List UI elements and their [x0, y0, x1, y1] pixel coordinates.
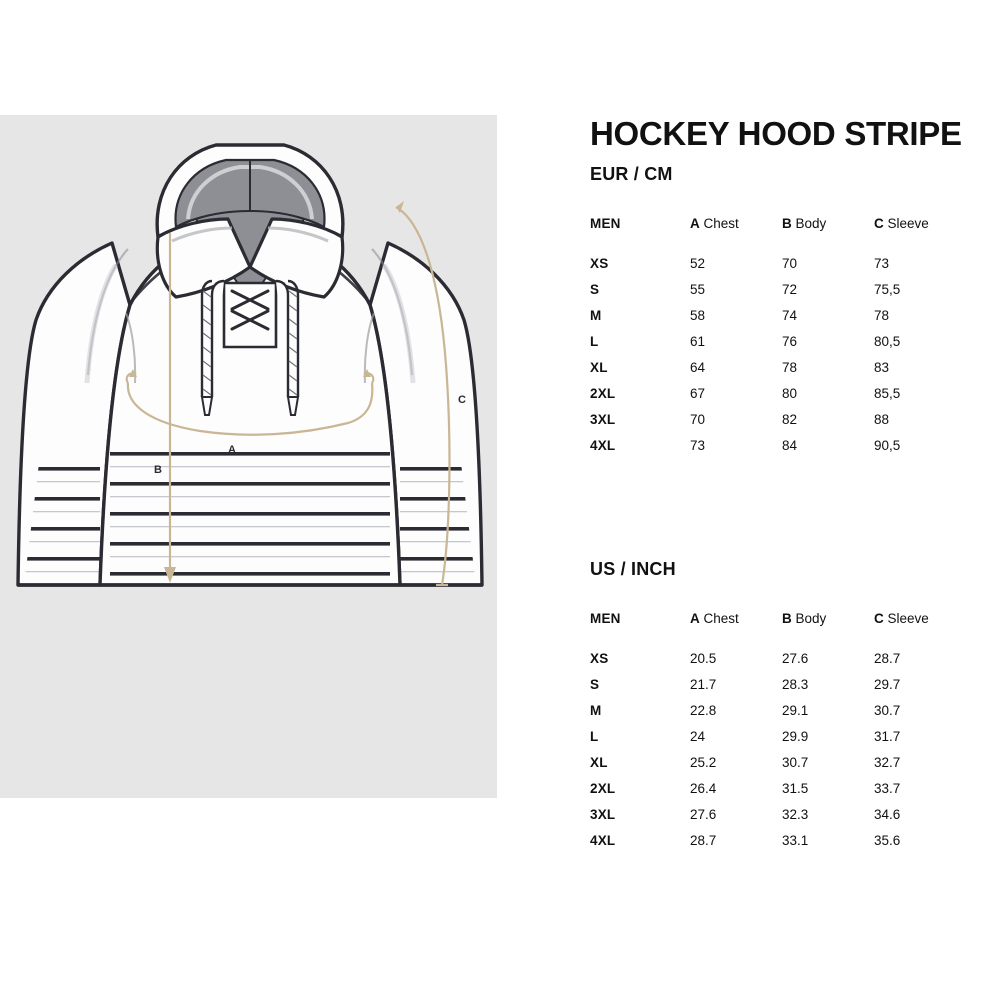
column-letter-a: A [690, 611, 700, 626]
table-header-row: MEN A Chest B Body C Sleeve [590, 612, 950, 652]
cell-chest: 73 [690, 439, 782, 465]
cell-sleeve: 31.7 [874, 730, 950, 756]
cell-size: 2XL [590, 782, 690, 808]
table-row: L 24 29.9 31.7 [590, 730, 950, 756]
cell-chest: 27.6 [690, 808, 782, 834]
cell-sleeve: 83 [874, 361, 950, 387]
column-label-body: Body [796, 611, 827, 626]
column-header-body: B Body [782, 217, 874, 257]
cell-size: M [590, 309, 690, 335]
cell-body: 76 [782, 335, 874, 361]
cell-chest: 26.4 [690, 782, 782, 808]
cell-chest: 67 [690, 387, 782, 413]
cell-chest: 64 [690, 361, 782, 387]
table-header-row: MEN A Chest B Body C Sleeve [590, 217, 950, 257]
cell-size: 4XL [590, 834, 690, 860]
column-label-chest: Chest [704, 216, 739, 231]
cell-sleeve: 85,5 [874, 387, 950, 413]
column-letter-c: C [874, 611, 884, 626]
column-header-body: B Body [782, 612, 874, 652]
cell-size: L [590, 335, 690, 361]
cell-size: XS [590, 257, 690, 283]
cell-chest: 58 [690, 309, 782, 335]
cell-body: 84 [782, 439, 874, 465]
cell-body: 32.3 [782, 808, 874, 834]
cell-size: XL [590, 361, 690, 387]
hood [157, 145, 343, 301]
cell-size: S [590, 678, 690, 704]
cell-sleeve: 80,5 [874, 335, 950, 361]
cell-sleeve: 73 [874, 257, 950, 283]
column-header-chest: A Chest [690, 612, 782, 652]
size-spec-sheet: HOCKEY HOOD STRIPE EUR / CM MEN A Chest … [590, 0, 990, 1000]
cell-chest: 20.5 [690, 652, 782, 678]
cell-sleeve: 90,5 [874, 439, 950, 465]
column-label-chest: Chest [704, 611, 739, 626]
table-row: XS 52 70 73 [590, 257, 950, 283]
table-row: 3XL 27.6 32.3 34.6 [590, 808, 950, 834]
cell-size: 3XL [590, 413, 690, 439]
table-row: XL 25.2 30.7 32.7 [590, 756, 950, 782]
cell-size: S [590, 283, 690, 309]
column-letter-b: B [782, 611, 792, 626]
size-table-us: MEN A Chest B Body C Sleeve XS 20.5 27.6… [590, 612, 950, 860]
column-label-sleeve: Sleeve [888, 216, 929, 231]
cell-body: 33.1 [782, 834, 874, 860]
size-table-body-us: XS 20.5 27.6 28.7 S 21.7 28.3 29.7 M 22.… [590, 652, 950, 860]
table-row: 2XL 67 80 85,5 [590, 387, 950, 413]
cell-chest: 24 [690, 730, 782, 756]
cell-size: L [590, 730, 690, 756]
table-row: L 61 76 80,5 [590, 335, 950, 361]
size-table-block-eur: EUR / CM MEN A Chest B Body C Sleeve XS … [590, 165, 990, 465]
garment-illustration-panel: A B C [0, 115, 497, 798]
cell-chest: 28.7 [690, 834, 782, 860]
column-header-sleeve: C Sleeve [874, 217, 950, 257]
column-letter-c: C [874, 216, 884, 231]
table-row: S 21.7 28.3 29.7 [590, 678, 950, 704]
size-table-body-eur: XS 52 70 73 S 55 72 75,5 M 58 74 78 [590, 257, 950, 465]
cell-chest: 70 [690, 413, 782, 439]
cell-body: 74 [782, 309, 874, 335]
size-table-block-us: US / INCH MEN A Chest B Body C Sleeve XS… [590, 560, 990, 860]
cell-chest: 25.2 [690, 756, 782, 782]
cell-chest: 61 [690, 335, 782, 361]
cell-chest: 52 [690, 257, 782, 283]
cell-sleeve: 30.7 [874, 704, 950, 730]
cell-size: 4XL [590, 439, 690, 465]
cell-chest: 55 [690, 283, 782, 309]
cell-body: 29.1 [782, 704, 874, 730]
cell-size: 3XL [590, 808, 690, 834]
cell-body: 31.5 [782, 782, 874, 808]
column-label-body: Body [796, 216, 827, 231]
cell-body: 82 [782, 413, 874, 439]
cell-sleeve: 35.6 [874, 834, 950, 860]
table-row: 3XL 70 82 88 [590, 413, 950, 439]
cell-body: 27.6 [782, 652, 874, 678]
cell-sleeve: 78 [874, 309, 950, 335]
column-header-chest: A Chest [690, 217, 782, 257]
unit-heading-eur: EUR / CM [590, 165, 990, 183]
cell-size: XS [590, 652, 690, 678]
column-label-sleeve: Sleeve [888, 611, 929, 626]
cell-chest: 21.7 [690, 678, 782, 704]
table-row: XL 64 78 83 [590, 361, 950, 387]
unit-heading-us: US / INCH [590, 560, 990, 578]
column-header-size: MEN [590, 217, 690, 257]
cell-sleeve: 75,5 [874, 283, 950, 309]
cell-body: 70 [782, 257, 874, 283]
cell-size: XL [590, 756, 690, 782]
hoodie-technical-drawing: A B C [0, 115, 497, 798]
chest-guide-letter: A [228, 444, 236, 456]
table-row: 4XL 73 84 90,5 [590, 439, 950, 465]
column-letter-b: B [782, 216, 792, 231]
cell-sleeve: 28.7 [874, 652, 950, 678]
column-letter-a: A [690, 216, 700, 231]
cell-body: 30.7 [782, 756, 874, 782]
cell-chest: 22.8 [690, 704, 782, 730]
cell-sleeve: 88 [874, 413, 950, 439]
table-row: S 55 72 75,5 [590, 283, 950, 309]
cell-size: M [590, 704, 690, 730]
body-guide-letter: B [154, 464, 162, 476]
column-header-size: MEN [590, 612, 690, 652]
cell-size: 2XL [590, 387, 690, 413]
table-row: M 58 74 78 [590, 309, 950, 335]
cell-sleeve: 34.6 [874, 808, 950, 834]
table-row: 4XL 28.7 33.1 35.6 [590, 834, 950, 860]
cell-sleeve: 33.7 [874, 782, 950, 808]
cell-body: 80 [782, 387, 874, 413]
cell-body: 78 [782, 361, 874, 387]
size-table-eur: MEN A Chest B Body C Sleeve XS 52 70 73 … [590, 217, 950, 465]
table-row: XS 20.5 27.6 28.7 [590, 652, 950, 678]
cell-body: 29.9 [782, 730, 874, 756]
cell-body: 72 [782, 283, 874, 309]
table-row: M 22.8 29.1 30.7 [590, 704, 950, 730]
table-row: 2XL 26.4 31.5 33.7 [590, 782, 950, 808]
page-title: HOCKEY HOOD STRIPE [590, 117, 962, 150]
cell-sleeve: 29.7 [874, 678, 950, 704]
cell-sleeve: 32.7 [874, 756, 950, 782]
column-header-sleeve: C Sleeve [874, 612, 950, 652]
cell-body: 28.3 [782, 678, 874, 704]
sleeve-guide-letter: C [458, 394, 466, 406]
